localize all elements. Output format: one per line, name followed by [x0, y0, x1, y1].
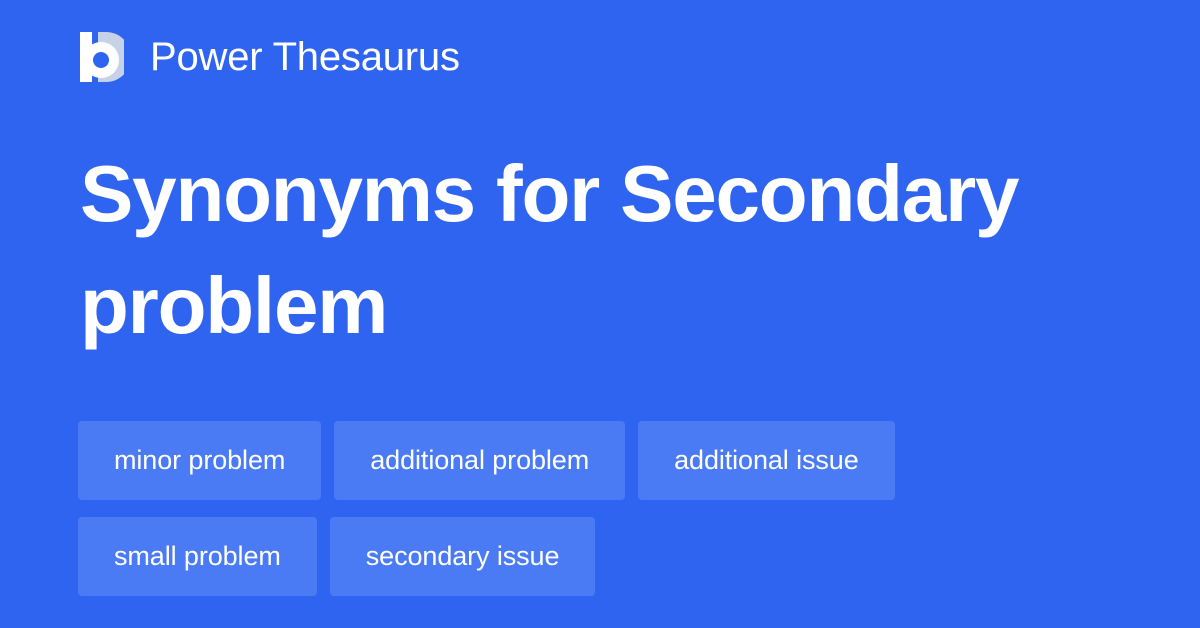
synonym-chip[interactable]: small problem — [78, 517, 317, 596]
synonym-chip[interactable]: additional problem — [334, 421, 625, 500]
brand-header[interactable]: Power Thesaurus — [80, 28, 460, 86]
page-title: Synonyms for Secondary problem — [80, 138, 1090, 362]
synonym-chip[interactable]: secondary issue — [330, 517, 596, 596]
brand-name: Power Thesaurus — [150, 37, 460, 77]
power-thesaurus-b-logo-icon — [80, 32, 124, 82]
power-thesaurus-share-card: Power Thesaurus Synonyms for Secondary p… — [0, 0, 1200, 628]
synonym-chip[interactable]: additional issue — [638, 421, 895, 500]
synonym-chip[interactable]: minor problem — [78, 421, 321, 500]
synonym-chip-list: minor problem additional problem additio… — [78, 421, 1128, 596]
